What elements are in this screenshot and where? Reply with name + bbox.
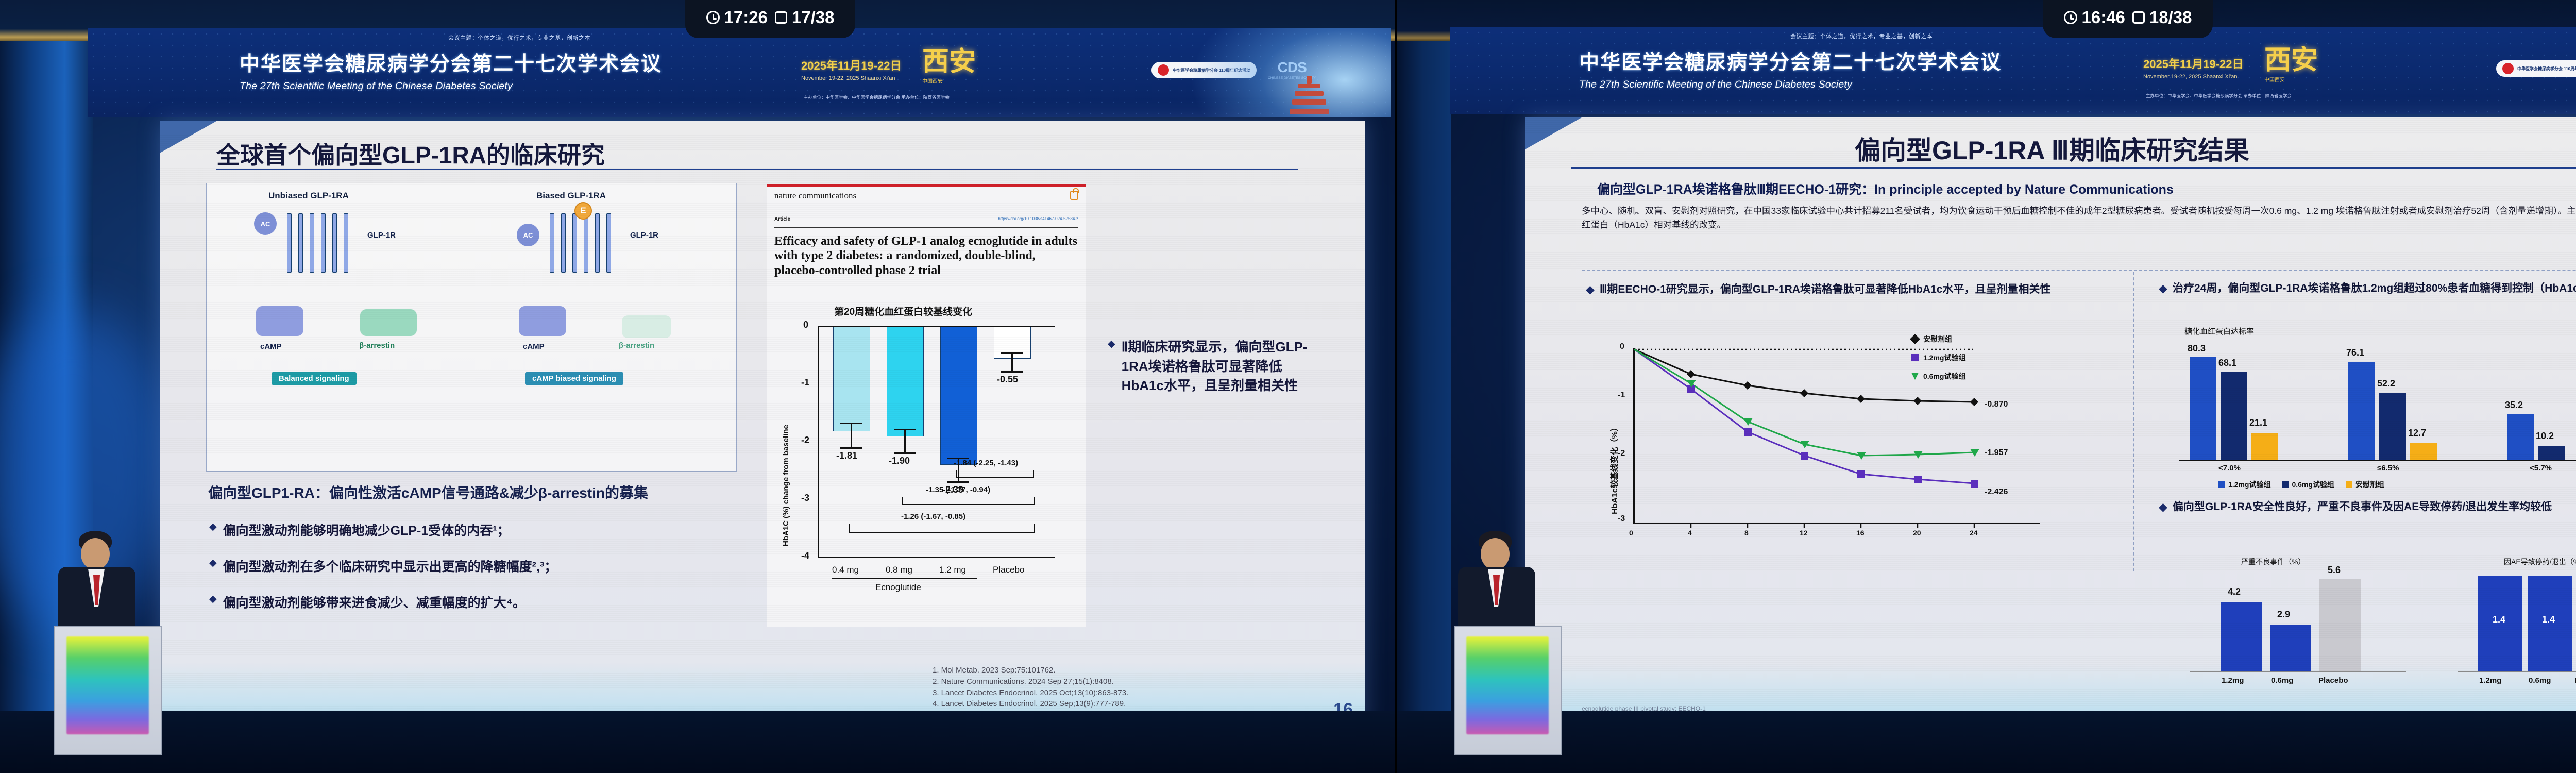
slide-17: 偏向型GLP-1RA Ⅲ期临床研究结果 偏向型GLP-1RA埃诺格鲁肽Ⅲ期EEC… (1525, 117, 2576, 731)
seal-calligraphy: 西安 (922, 49, 984, 76)
xcat-2: 1.2 mg (939, 565, 966, 575)
bar-label-5.6: 5.6 (2328, 565, 2341, 576)
g-protein-right-icon (519, 306, 566, 336)
chart-right-ae-discontinue: 因AE导致停药/退出（%） 1.4 1.4 1.4 1.2mg 0.6mg Pl… (2447, 557, 2576, 696)
xcat-sae-placebo: Placebo (2318, 676, 2348, 685)
xcat-lt7: <7.0% (2218, 464, 2241, 473)
bar-1.2mg-le65 (2348, 362, 2375, 460)
xcat-lt57: <5.7% (2530, 464, 2552, 473)
title-underline (1571, 167, 2576, 169)
triangle-marker-icon (1911, 373, 1919, 380)
panel-divider (1395, 0, 1397, 773)
bar-label-aed-1.2mg: 1.4 (2493, 614, 2505, 625)
g-protein-left-icon (256, 306, 303, 336)
banner-seal: 西安 中国西安 (922, 49, 984, 106)
podium-right (1454, 626, 1562, 755)
xtick-24: 24 (1970, 529, 1978, 537)
xtick-16: 16 (1856, 529, 1865, 537)
open-lock-icon (1070, 191, 1078, 200)
x-axis (2179, 460, 2576, 461)
glp1r-label-left: GLP-1R (367, 231, 396, 240)
x-axis (2458, 671, 2576, 672)
bar-label-2.9: 2.9 (2277, 609, 2290, 620)
endpoint-0.6mg: -1.957 (1985, 448, 2008, 458)
sub-banner: 偏向型GLP-1RA埃诺格鲁肽Ⅲ期EECHO-1研究：In principle … (1597, 179, 2174, 198)
legend-item-0.6mg: 0.6mg试验组 (2282, 479, 2334, 490)
banner-date: 2025年11月19-22日 November 19-22, 2025 Shaa… (2143, 55, 2243, 80)
nature-publication-card: nature communications Article https://do… (767, 184, 1086, 627)
ytick-4: -4 (801, 550, 809, 561)
left-bullet-2: ◆ 偏向型激动剂在多个临床研究中显示出更高的降糖幅度²,³； (209, 557, 557, 575)
dual-screen-conference-view: 会议主题：个体之道，优行之术，专业之基，创新之本 中华医学会糖尿病学分会第二十七… (0, 0, 2576, 773)
balanced-signaling-chip: Balanced signaling (272, 372, 357, 385)
stage-floor (0, 711, 1395, 773)
unbiased-header: Unbiased GLP-1RA (268, 191, 349, 201)
left-bullet-1-text: 偏向型激动剂能够明确地减少GLP-1受体的内吞¹； (223, 520, 510, 539)
banner-title-en: The 27th Scientific Meeting of the Chine… (1579, 79, 2074, 91)
comparison-label-1: -1.84 (-2.25, -1.43) (954, 459, 1018, 467)
arrestin-left-label: β-arrestin (359, 341, 395, 350)
comparison-bracket-1 (956, 470, 1034, 478)
cma-logo-text: 中华医学会糖尿病学分会 110周年纪念活动 (2517, 66, 2576, 72)
nature-article-title: Efficacy and safety of GLP-1 analog ecno… (774, 234, 1078, 278)
clock-group: 17:26 (706, 8, 768, 27)
ytick-3: -3 (801, 493, 809, 503)
camp-right-label: cAMP (523, 342, 545, 351)
group-rule (832, 578, 977, 579)
banner-logos: 中华医学会糖尿病学分会 110周年纪念活动 CDS CHINESE DIABET… (2496, 59, 2576, 78)
seal-calligraphy: 西安 (2264, 47, 2326, 74)
left-bullet-3-text: 偏向型激动剂能够带来进食减少、减重幅度的扩大⁴。 (223, 593, 526, 611)
left-camera-panel: 会议主题：个体之道，优行之术，专业之基，创新之本 中华医学会糖尿病学分会第二十七… (0, 0, 1395, 773)
glp1r-label-right: GLP-1R (630, 231, 658, 240)
slide-icon (2132, 11, 2145, 24)
right-bullet-1-text: Ⅲ期EECHO-1研究显示，偏向型GLP-1RA埃诺格鲁肽可显著降低HbA1c水… (1600, 282, 2051, 297)
left-bullet-2-text: 偏向型激动剂在多个临床研究中显示出更高的降糖幅度²,³； (223, 557, 557, 575)
reference-1: 1. Mol Metab. 2023 Sep:75:101762. (933, 665, 1128, 676)
legend-label-1.2mg: 1.2mg试验组 (2228, 479, 2270, 490)
chart-right-hba1c-target: 80.3 68.1 21.1 <7.0% 76.1 52.2 12.7 ≤6.5… (2169, 334, 2576, 489)
legend-item-1.2mg: 1.2mg试验组 (2218, 479, 2270, 490)
overlay-time: 17:26 (724, 8, 768, 27)
chart-xlabel: Ecnoglutide (875, 582, 921, 593)
xcat-3: Placebo (993, 565, 1024, 575)
right-bullet-2-text: 治疗24周，偏向型GLP-1RA埃诺格鲁肽1.2mg组超过80%患者血糖得到控制… (2173, 281, 2576, 296)
bar-label-80.3: 80.3 (2188, 343, 2206, 354)
xcat-1: 0.8 mg (886, 565, 912, 575)
timestamp-overlay-right: 16:46 18/38 (2043, 0, 2213, 38)
bar-placebo-lt7 (2251, 433, 2278, 460)
bar-0.8mg (887, 327, 924, 436)
comparison-label-3: -1.26 (-1.67, -0.85) (901, 512, 965, 521)
endpoint-placebo: -0.870 (1985, 400, 2008, 409)
diamond-bullet-icon: ◆ (1108, 339, 1115, 349)
beta-arrestin-right-icon (622, 315, 671, 338)
bar-1.2mg-lt7 (2190, 357, 2216, 460)
legend-item-0.6mg: 0.6mg试验组 (1911, 371, 1965, 381)
ae-discontinue-title: 因AE导致停药/退出（%） (2504, 557, 2576, 567)
chart-left-phase2-hba1c: 第20周糖化血红蛋白较基线变化 HbA1C (%) change from ba… (772, 304, 1081, 618)
speaker-head (81, 538, 110, 570)
diamond-bullet-icon: ◆ (209, 522, 217, 532)
banner-topic: 会议主题：个体之道，优行之术，专业之基，创新之本 (1790, 32, 1933, 40)
open-access-row (1070, 191, 1078, 200)
right-camera-panel: 会议主题：个体之道，优行之术，专业之基，创新之本 中华医学会糖尿病学分会第二十七… (1395, 0, 2576, 773)
errorbar-cap-top (894, 429, 916, 430)
diamond-bullet-icon: ◆ (2159, 283, 2167, 294)
stage-banner: 会议主题：个体之道，优行之术，专业之基，创新之本 中华医学会糖尿病学分会第二十七… (1450, 27, 2576, 114)
nature-doi: https://doi.org/10.1038/s41467-024-52584… (998, 216, 1078, 221)
xcat-le65: ≤6.5% (2377, 464, 2399, 473)
ytick-1: -1 (801, 377, 809, 388)
timestamp-overlay-left: 17:26 17/38 (685, 0, 855, 38)
comparison-bracket-3 (849, 524, 1035, 533)
x-axis (2190, 671, 2406, 672)
camp-biased-signaling-chip: cAMP biased signaling (525, 372, 623, 385)
cma-emblem-icon (1158, 64, 1169, 76)
diamond-bullet-icon: ◆ (209, 558, 217, 568)
banner-date-en: November 19-22, 2025 Shaanxi Xi'an (801, 75, 901, 81)
biased-header: Biased GLP-1RA (536, 191, 606, 201)
xtick-4: 4 (1688, 529, 1692, 537)
reference-3: 3. Lancet Diabetes Endocrinol. 2025 Oct;… (933, 687, 1128, 699)
banner-title-cn: 中华医学会糖尿病学分会第二十七次学术会议 (1579, 46, 2074, 75)
seal-subtitle: 中国西安 (2264, 75, 2326, 83)
nature-red-rule (767, 184, 1086, 187)
mechanism-diagram-box: Unbiased GLP-1RA Biased GLP-1RA (206, 183, 737, 472)
cma-logo: 中华医学会糖尿病学分会 110周年纪念活动 (2496, 60, 2576, 77)
slide-16: 全球首个偏向型GLP-1RA的临床研究 Unbiased GLP-1RA Bia… (160, 121, 1365, 729)
banner-title-en: The 27th Scientific Meeting of the Chine… (240, 80, 734, 92)
banner-topic: 会议主题：个体之道，优行之术，专业之基，创新之本 (448, 33, 590, 42)
bar-label-placebo: -0.55 (997, 374, 1018, 385)
errorbar-cap-bottom (840, 447, 862, 449)
legend-label-1.2mg: 1.2mg试验组 (1923, 352, 1965, 363)
slide-counter-group: 17/38 (775, 8, 835, 27)
chart-right-serious-ae: 严重不良事件（%） 4.2 2.9 5.6 1.2mg 0.6mg Placeb… (2179, 557, 2427, 696)
line-chart-legend: 安慰剂组 1.2mg试验组 0.6mg试验组 (1911, 334, 1965, 381)
swatch-icon (2346, 481, 2352, 488)
chart-ylabel: HbA1C (%) change from baseline (782, 425, 790, 546)
bar-sae-1.2mg (2221, 602, 2262, 671)
ac-ligand-left-icon: AC (254, 212, 277, 235)
banner-date: 2025年11月19-22日 November 19-22, 2025 Shaa… (801, 57, 901, 81)
slide-corner-decoration (160, 121, 216, 153)
slide-title: 偏向型GLP-1RA Ⅲ期临床研究结果 (1855, 130, 2249, 167)
legend-label-0.6mg: 0.6mg试验组 (1923, 371, 1965, 381)
xtick-12: 12 (1800, 529, 1808, 537)
title-underline (216, 169, 1298, 170)
horizontal-dashed-rule (1582, 270, 2576, 271)
bar-label-76.1: 76.1 (2346, 347, 2364, 358)
bar-0.6mg-lt7 (2221, 372, 2247, 460)
xtick-0: 0 (1629, 529, 1633, 537)
podium-confidence-monitor (1466, 636, 1549, 734)
reference-2: 2. Nature Communications. 2024 Sep 27;15… (933, 676, 1128, 687)
study-paragraph: 多中心、随机、双盲、安慰剂对照研究，在中国33家临床试验中心共计招募211名受试… (1582, 204, 2576, 232)
bar-1.2mg (940, 327, 977, 465)
xcat-sae-1.2mg: 1.2mg (2222, 676, 2244, 685)
arrestin-right-label: β-arrestin (619, 341, 654, 350)
xcat-sae-0.6mg: 0.6mg (2271, 676, 2293, 685)
legend-item-1.2mg: 1.2mg试验组 (1911, 352, 1965, 363)
projection-screen-right: 偏向型GLP-1RA Ⅲ期临床研究结果 偏向型GLP-1RA埃诺格鲁肽Ⅲ期EEC… (1525, 117, 2576, 731)
left-slide-side-bullet-text: Ⅱ期临床研究显示，偏向型GLP-1RA埃诺格鲁肽可显著降低HbA1c水平，且呈剂… (1122, 338, 1324, 396)
hba1c-target-legend: 1.2mg试验组 0.6mg试验组 安慰剂组 (2218, 479, 2384, 490)
chart-title: 第20周糖化血红蛋白较基线变化 (834, 304, 972, 318)
line-chart-svg (1602, 339, 2117, 556)
diamond-bullet-icon: ◆ (1586, 284, 1595, 295)
bar-label-52.2: 52.2 (2377, 378, 2395, 389)
slide-corner-decoration (1525, 117, 1582, 149)
swatch-icon (2218, 481, 2225, 488)
banner-date-en: November 19-22, 2025 Shaanxi Xi'an (2143, 74, 2243, 80)
nature-divider (774, 227, 1078, 228)
errorbar-cap-bottom (894, 452, 916, 454)
nature-journal-name: nature communications (774, 191, 856, 201)
legend-label-placebo: 安慰剂组 (1923, 334, 1952, 344)
comparison-label-2: -1.35 (-1.77, -0.94) (926, 485, 990, 494)
seal-subtitle: 中国西安 (922, 77, 984, 85)
banner-title-block: 中华医学会糖尿病学分会第二十七次学术会议 The 27th Scientific… (1579, 46, 2074, 91)
errorbar-0.4mg (851, 423, 852, 448)
bar-0.4mg (833, 327, 870, 431)
legend-label-0.6mg: 0.6mg试验组 (2292, 479, 2334, 490)
projection-screen-left: 全球首个偏向型GLP-1RA的临床研究 Unbiased GLP-1RA Bia… (160, 121, 1365, 729)
ac-ligand-right-icon: AC (517, 224, 539, 246)
chart-right-eecho1-line: HbA1c较基线变化（%） 0 -1 -2 -3 (1602, 339, 2117, 556)
y-axis (818, 326, 819, 558)
right-wall-left (1395, 0, 1451, 773)
bar-0.6mg-le65 (2379, 393, 2406, 460)
bar-label-68.1: 68.1 (2218, 358, 2236, 368)
xtick-8: 8 (1744, 529, 1749, 537)
ytick-0: 0 (803, 320, 808, 330)
left-bullet-3: ◆ 偏向型激动剂能够带来进食减少、减重幅度的扩大⁴。 (209, 593, 526, 611)
bar-sae-placebo (2319, 579, 2361, 671)
errorbar-cap-bottom (947, 481, 969, 483)
swatch-icon (2282, 481, 2289, 488)
legend-item-placebo: 安慰剂组 (2346, 479, 2384, 490)
left-subtitle: 偏向型GLP1-RA：偏向性激活cAMP信号通路&减少β-arrestin的募集 (208, 482, 648, 502)
beta-arrestin-left-icon (360, 309, 417, 336)
receptor-biased-icon (547, 213, 624, 275)
bar-label-4.2: 4.2 (2228, 586, 2241, 597)
ytick-2: -2 (801, 435, 809, 446)
left-slide-side-bullet: ◆ Ⅱ期临床研究显示，偏向型GLP-1RA埃诺格鲁肽可显著降低HbA1c水平，且… (1108, 338, 1324, 396)
bar-0.6mg-lt57 (2538, 446, 2565, 460)
bar-label-0.8mg: -1.90 (889, 456, 910, 466)
errorbar-0.8mg (904, 429, 906, 453)
speaker-head (1481, 538, 1510, 570)
slide-icon (775, 11, 787, 24)
legend-label-placebo: 安慰剂组 (2355, 479, 2384, 490)
bar-label-10.2: 10.2 (2536, 431, 2554, 442)
right-bullet-3: ◆ 偏向型GLP-1RA安全性良好，严重不良事件及因AE导致停药/退出发生率均较… (2159, 500, 2576, 515)
right-bullet-3-text: 偏向型GLP-1RA安全性良好，严重不良事件及因AE导致停药/退出发生率均较低 (2173, 500, 2552, 515)
diamond-marker-icon (1910, 334, 1920, 344)
endpoint-1.2mg: -2.426 (1985, 488, 2008, 497)
banner-seal: 西安 中国西安 (2264, 47, 2326, 104)
bar-label-21.1: 21.1 (2249, 417, 2267, 428)
bar-sae-0.6mg (2270, 625, 2311, 671)
diamond-bullet-icon: ◆ (2159, 501, 2167, 513)
xcat-aed-0.6mg: 0.6mg (2529, 676, 2551, 685)
banner-title-block: 中华医学会糖尿病学分会第二十七次学术会议 The 27th Scientific… (240, 48, 734, 92)
overlay-slide-counter: 17/38 (792, 8, 835, 27)
bar-label-12.7: 12.7 (2408, 428, 2426, 439)
xcat-aed-1.2mg: 1.2mg (2479, 676, 2501, 685)
pagoda-graphic (1289, 76, 1330, 117)
xcat-0: 0.4 mg (832, 565, 859, 575)
vertical-dashed-rule (2133, 272, 2134, 571)
x-axis (818, 557, 1055, 558)
biased-badge-icon: E (574, 202, 592, 220)
bar-label-35.2: 35.2 (2505, 400, 2523, 411)
xtick-20: 20 (1913, 529, 1921, 537)
clock-icon (706, 11, 720, 24)
errorbar-placebo (1011, 352, 1013, 372)
errorbar-cap-bottom (1001, 371, 1023, 373)
errorbar-cap-top (1001, 352, 1023, 354)
podium-confidence-monitor (66, 636, 149, 734)
banner-date-cn: 2025年11月19-22日 (2143, 55, 2243, 72)
comparison-bracket-2 (902, 497, 1035, 505)
right-bullet-1: ◆ Ⅲ期EECHO-1研究显示，偏向型GLP-1RA埃诺格鲁肽可显著降低HbA1… (1586, 282, 2091, 297)
diamond-bullet-icon: ◆ (209, 594, 217, 604)
bar-label-aed-0.6mg: 1.4 (2542, 614, 2555, 625)
slide-counter-group: 18/38 (2132, 8, 2192, 27)
left-bullet-1: ◆ 偏向型激动剂能够明确地减少GLP-1受体的内吞¹； (209, 520, 510, 539)
banner-date-cn: 2025年11月19-22日 (801, 57, 901, 73)
overlay-slide-counter: 18/38 (2149, 8, 2192, 27)
clock-group: 16:46 (2064, 8, 2125, 27)
bar-label-0.4mg: -1.81 (836, 450, 857, 461)
bar-placebo-le65 (2410, 443, 2437, 460)
receptor-unbiased-icon (284, 213, 361, 275)
right-bullet-2: ◆ 治疗24周，偏向型GLP-1RA埃诺格鲁肽1.2mg组超过80%患者血糖得到… (2159, 281, 2576, 296)
reference-4: 4. Lancet Diabetes Endocrinol. 2025 Sep;… (933, 698, 1128, 710)
camp-left-label: cAMP (260, 342, 282, 351)
cma-emblem-icon (2502, 63, 2514, 74)
legend-item-placebo: 安慰剂组 (1911, 334, 1965, 344)
podium-left (54, 626, 162, 755)
stage-floor (1395, 711, 2576, 773)
overlay-time: 16:46 (2082, 8, 2125, 27)
clock-icon (2064, 11, 2077, 24)
bar-1.2mg-lt57 (2507, 414, 2534, 460)
errorbar-cap-top (840, 423, 862, 424)
reference-list: 1. Mol Metab. 2023 Sep:75:101762. 2. Nat… (933, 665, 1128, 710)
serious-ae-title: 严重不良事件（%） (2241, 557, 2305, 567)
square-marker-icon (1911, 354, 1919, 361)
slide-title: 全球首个偏向型GLP-1RA的临床研究 (216, 137, 605, 171)
nature-article-kicker: Article (774, 216, 790, 222)
banner-title-cn: 中华医学会糖尿病学分会第二十七次学术会议 (240, 48, 734, 77)
stage-banner: 会议主题：个体之道，优行之术，专业之基，创新之本 中华医学会糖尿病学分会第二十七… (88, 28, 1391, 117)
